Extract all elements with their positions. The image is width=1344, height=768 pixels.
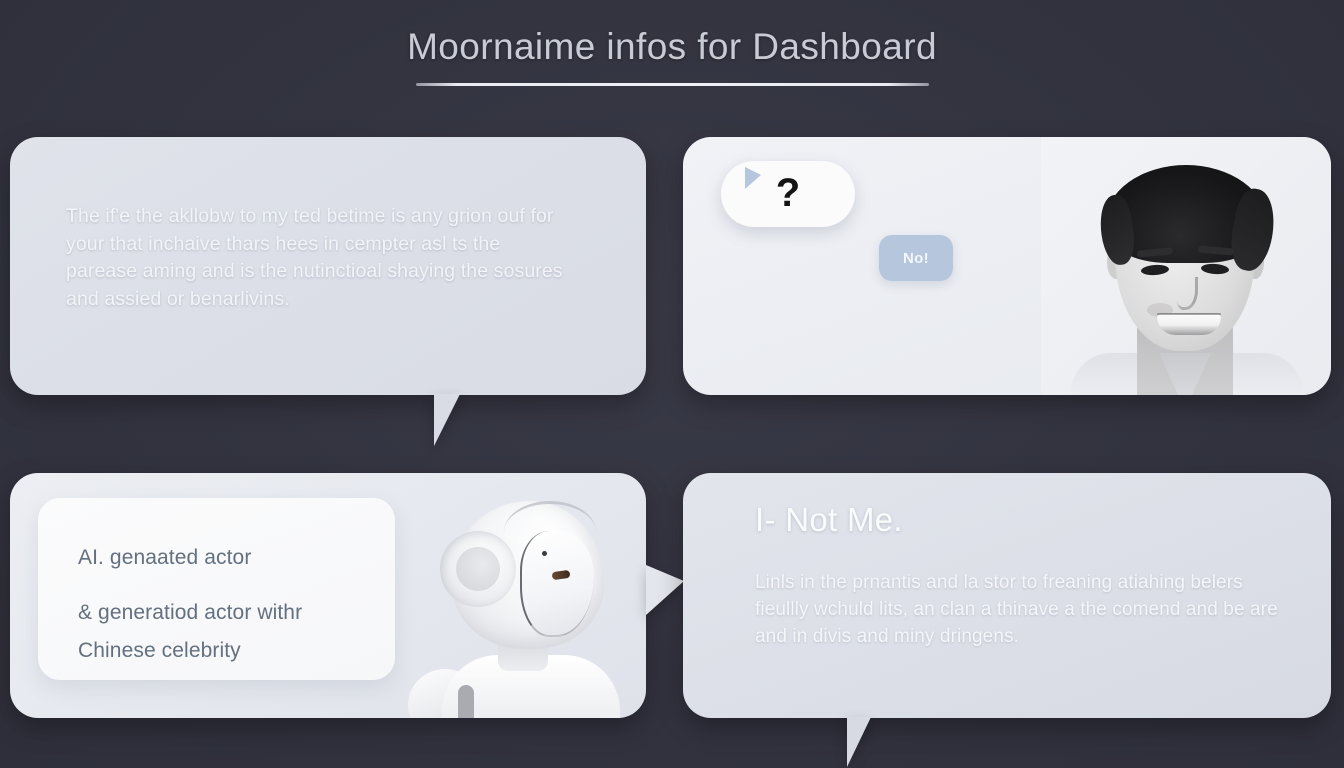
tag-item-2: Chinese celebrity xyxy=(78,639,241,663)
not-me-panel-inner: I- Not Me. Linls in the prnantis and la … xyxy=(683,473,1331,718)
robot-panel-inner: AI. genaated actor & generatiod actor wi… xyxy=(10,473,646,718)
question-bubble-tail xyxy=(736,201,760,223)
robot-ear-inner xyxy=(456,547,500,591)
reply-bubble[interactable]: No! xyxy=(879,235,953,281)
not-me-heading: I- Not Me. xyxy=(755,501,903,539)
intro-paragraph: The if'e the akllobw to my ted betime is… xyxy=(66,203,576,313)
robot-shoulder-joint xyxy=(458,685,474,718)
portrait-mouth-line xyxy=(1157,313,1221,315)
question-panel-inner: ? No! xyxy=(683,137,1331,395)
tag-item-1: & generatiod actor withr xyxy=(78,601,302,625)
intro-bubble-tail xyxy=(434,394,498,446)
title-underline-divider xyxy=(416,83,929,86)
not-me-paragraph: Linls in the prnantis and la stor to fre… xyxy=(755,569,1295,650)
not-me-panel-tail xyxy=(847,717,905,767)
intro-panel-inner: The if'e the akllobw to my ted betime is… xyxy=(10,137,646,395)
tag-item-0: AI. genaated actor xyxy=(78,546,251,570)
page-header: Moornaime infos for Dashboard xyxy=(0,26,1344,86)
question-portrait-panel[interactable]: ? No! xyxy=(683,137,1331,395)
reply-bubble-label: No! xyxy=(879,235,953,281)
robot-illustration xyxy=(400,473,646,718)
not-me-panel[interactable]: I- Not Me. Linls in the prnantis and la … xyxy=(683,473,1331,718)
robot-panel-tail xyxy=(646,565,684,615)
page-title: Moornaime infos for Dashboard xyxy=(0,26,1344,69)
intro-speech-bubble-panel[interactable]: The if'e the akllobw to my ted betime is… xyxy=(10,137,646,395)
portrait-smile-mouth xyxy=(1157,313,1221,335)
robot-sensor-dot xyxy=(542,551,547,556)
robot-tags-panel[interactable]: AI. genaated actor & generatiod actor wi… xyxy=(10,473,646,718)
reply-bubble-tail xyxy=(745,167,761,189)
man-portrait-photo xyxy=(1041,137,1331,395)
tags-card[interactable]: AI. genaated actor & generatiod actor wi… xyxy=(38,498,395,680)
